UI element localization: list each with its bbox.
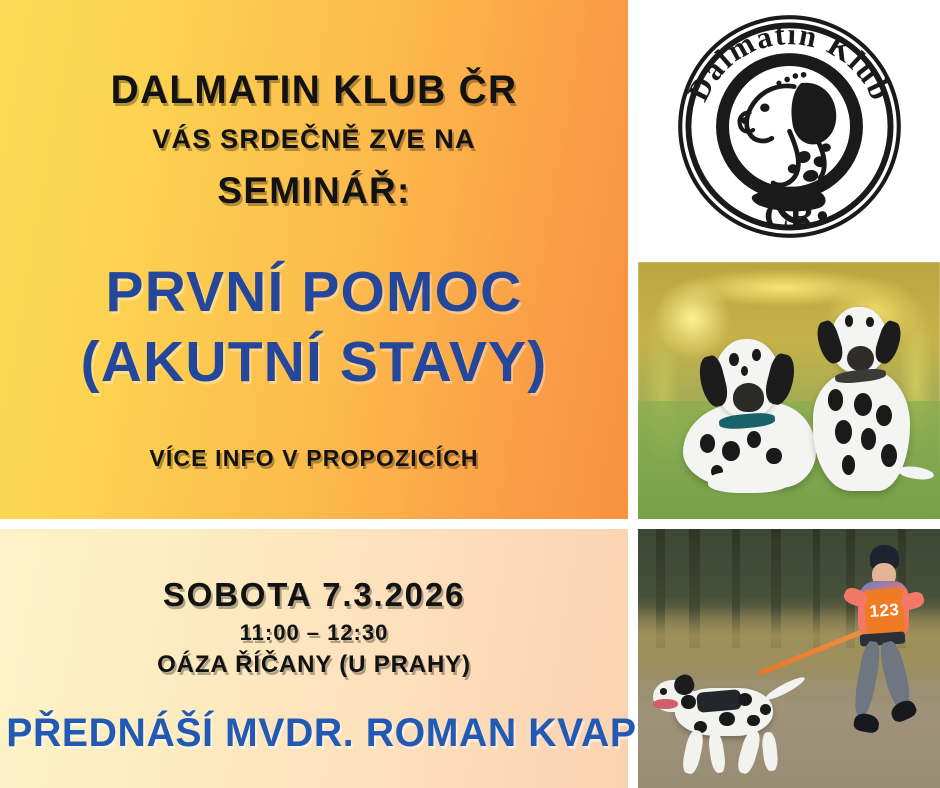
topic-line-2: (AKUTNÍ STAVY) [0,334,628,391]
runner-figure: 123 [831,545,934,747]
club-name: DALMATIN KLUB ČR [9,70,618,110]
dog-body [813,370,910,491]
dogs-scene [638,262,940,519]
photo-canicross-runner: 123 [638,529,940,788]
bib-number: 123 [869,600,900,622]
dog-leg [680,729,704,775]
dog-spot [866,317,873,327]
dog-spot [681,695,695,709]
dog-spot [828,389,844,410]
dog-spot [845,315,853,327]
dog-spot [752,349,760,361]
dog-spot [881,444,897,467]
photo-two-dalmatians [638,262,940,519]
runner-bib: 123 [864,588,906,635]
runner-shoe-back [888,698,918,725]
dog-spot [861,428,875,449]
dalmatin-klub-cr-logo: Dalmatin Klub ČR [672,9,907,244]
dalmatian-head-emblem [739,71,836,220]
event-time: 11:00 – 12:30 [0,622,628,644]
seminar-label: SEMINÁŘ: [0,172,628,209]
event-date: SOBOTA 7.3.2026 [0,578,628,611]
dog-leg [761,731,779,771]
logo-cell: Dalmatin Klub ČR [638,0,940,252]
runner-shoe-front [852,712,879,734]
dog-muzzle [733,383,764,412]
dog-spot [700,434,715,453]
poster-canvas: DALMATIN KLUB ČR VÁS SRDEČNĚ ZVE NA SEMI… [0,0,940,788]
dog-spot [729,353,739,367]
dog-front-legs [708,471,789,493]
dog-spot [766,448,781,465]
more-info-note: VÍCE INFO V PROPOZICÍCH [0,447,628,470]
dalmatian-sitting [801,303,922,498]
dog-harness [696,689,742,712]
dog-spot [760,704,771,715]
dog-spot [722,441,740,461]
dog-muzzle [847,346,874,371]
dog-spot [747,431,761,448]
dog-leg [707,731,727,774]
speaker-name: PŘEDNÁŠÍ MVDR. ROMAN KVAPIL [6,713,621,753]
dalmatian-running [650,669,807,778]
dog-spot [738,693,752,706]
dalmatian-lying [680,329,819,499]
dog-spot [876,405,892,426]
runner-leg-front [851,640,883,719]
dog-tongue [653,699,678,709]
dog-tail [764,674,807,702]
canicross-scene: 123 [638,529,940,788]
invitation-line: VÁS SRDEČNĚ ZVE NA [0,126,628,153]
dog-spot [835,420,852,443]
header-panel: DALMATIN KLUB ČR VÁS SRDEČNĚ ZVE NA SEMI… [0,0,628,519]
topic-line-1: PRVNÍ POMOC [0,264,628,321]
event-place: OÁZA ŘÍČANY (U PRAHY) [0,653,628,677]
dog-eye [660,688,668,695]
